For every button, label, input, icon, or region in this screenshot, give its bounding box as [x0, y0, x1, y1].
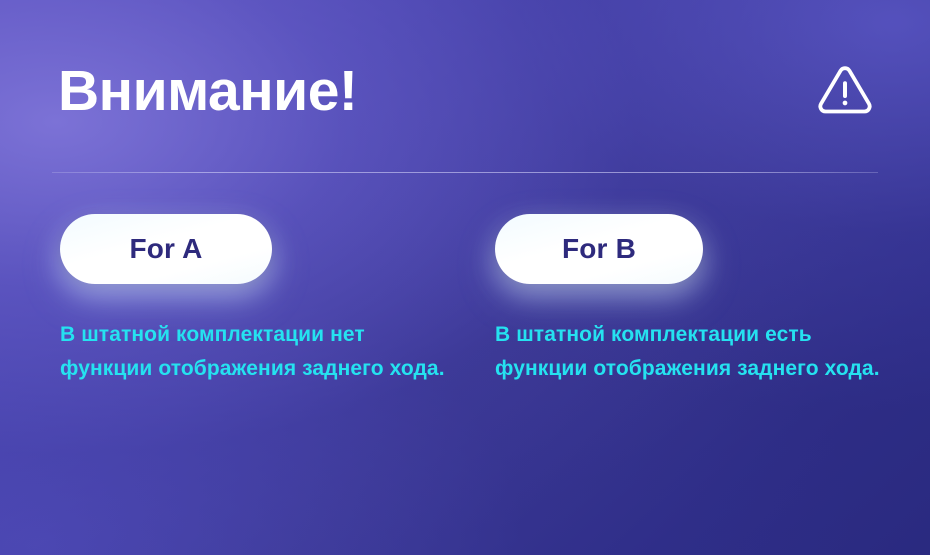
for-b-description: В штатной комплектации есть функции отоб… [495, 284, 885, 386]
slide-header: Внимание! [58, 48, 878, 134]
option-column-for-a: For A В штатной комплектации нет функции… [60, 214, 460, 386]
option-column-for-b: For B В штатной комплектации есть функци… [495, 214, 895, 386]
header-divider [52, 172, 878, 173]
page-title: Внимание! [58, 63, 357, 120]
for-a-description: В штатной комплектации нет функции отобр… [60, 284, 450, 386]
warning-slide: Внимание! For A В штатной комплектации н… [0, 0, 930, 555]
for-a-button-label: For A [129, 233, 202, 265]
for-a-button[interactable]: For A [60, 214, 272, 284]
warning-triangle-icon [816, 62, 874, 120]
for-b-button[interactable]: For B [495, 214, 703, 284]
for-b-button-label: For B [562, 233, 636, 265]
